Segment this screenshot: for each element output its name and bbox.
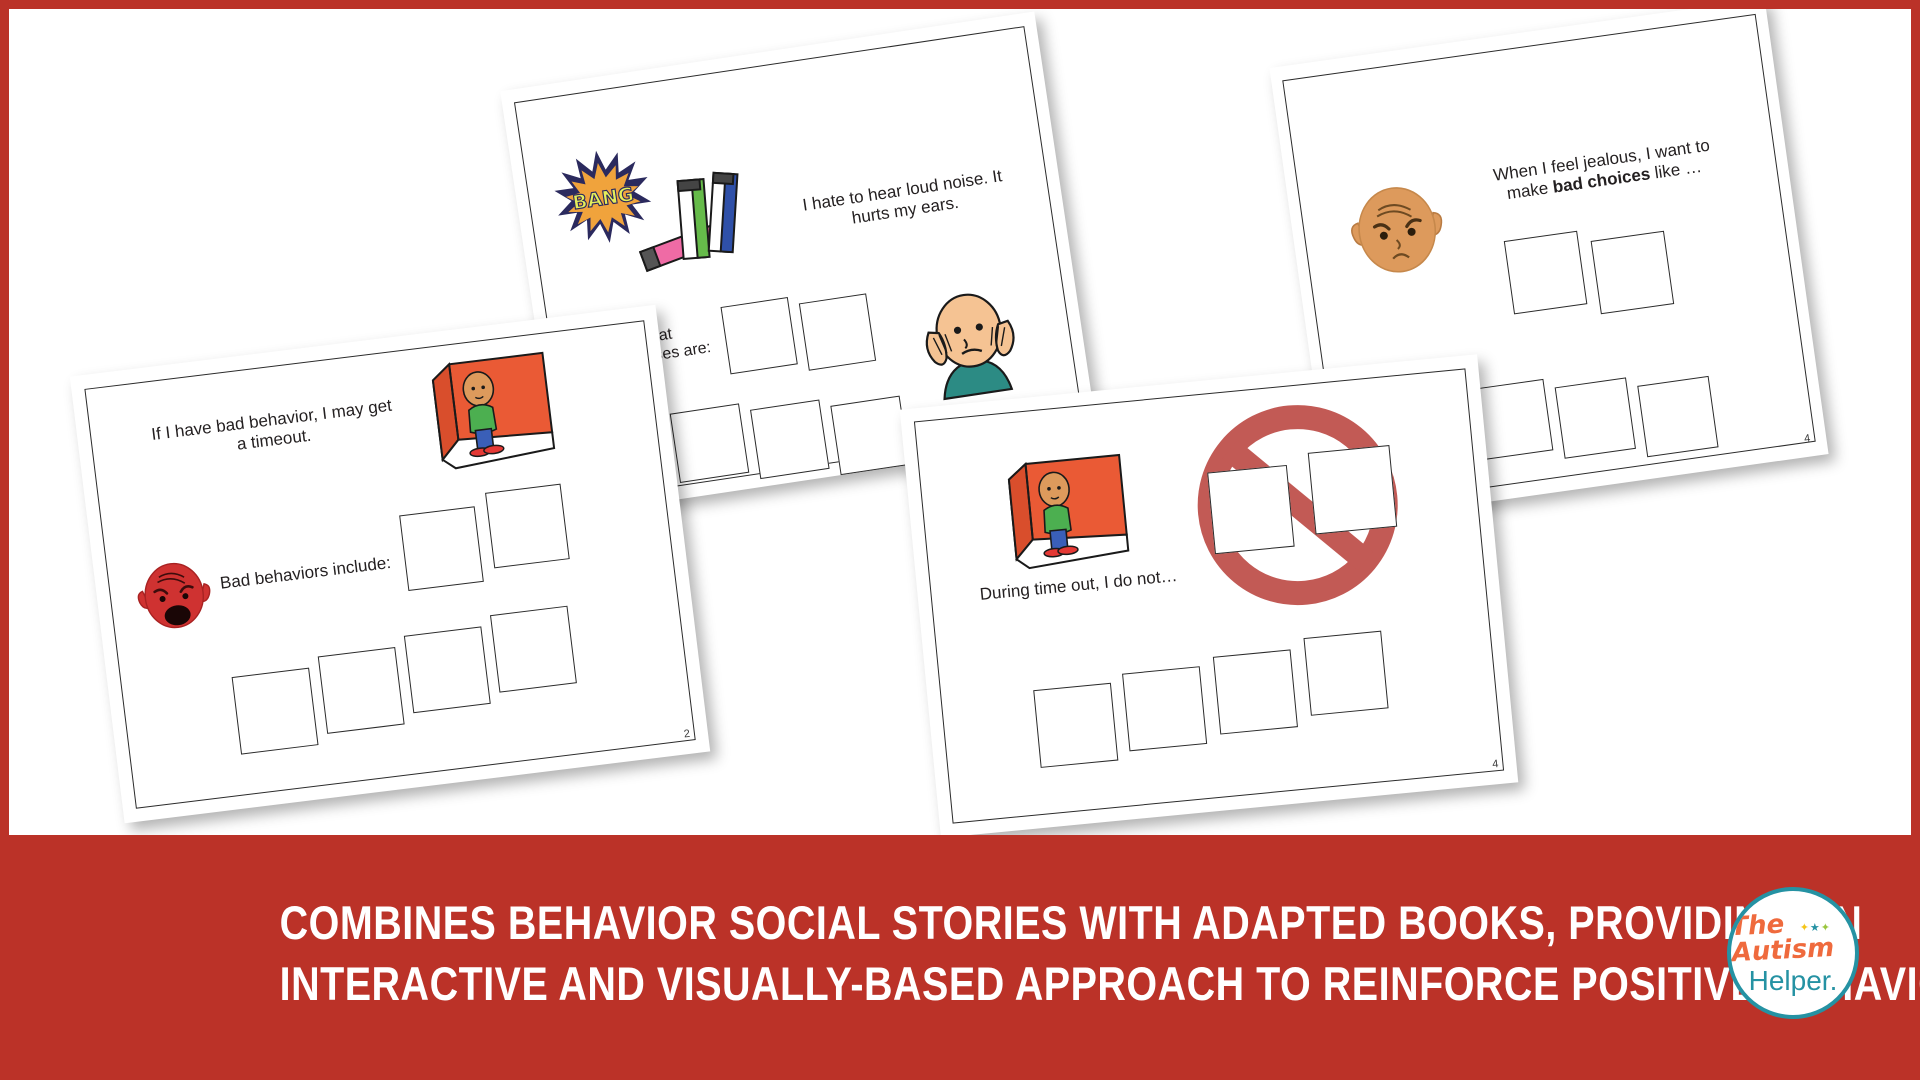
response-square[interactable] [1591, 231, 1675, 315]
response-square[interactable] [490, 606, 577, 693]
response-square[interactable] [1122, 666, 1207, 751]
the-autism-helper-logo[interactable]: ✦★✦ The Autism Helper. [1727, 887, 1859, 1019]
response-square[interactable] [799, 293, 876, 370]
promo-image-root: BANG [0, 0, 1920, 1080]
response-square[interactable] [1213, 649, 1298, 734]
response-square[interactable] [1033, 683, 1118, 768]
response-square[interactable] [1555, 377, 1636, 458]
boy-covering-ears-icon [906, 275, 1034, 408]
response-square[interactable] [1504, 231, 1588, 315]
page-number: 4 [1492, 758, 1499, 771]
card-collage-stage: BANG [9, 9, 1911, 835]
response-square[interactable] [399, 506, 484, 591]
timeout-boy-corner-icon [423, 348, 562, 475]
response-square[interactable] [404, 626, 491, 713]
angry-red-face-icon [131, 551, 218, 640]
timeout-boy-corner-icon [999, 450, 1135, 574]
response-square[interactable] [318, 647, 405, 734]
promo-banner: Combines behavior social stories with ad… [9, 835, 1911, 1071]
response-square[interactable] [670, 403, 750, 483]
card-bad-behavior-timeout[interactable]: If I have bad behavior, I may get a time… [70, 305, 710, 824]
response-square[interactable] [1303, 631, 1388, 716]
response-square[interactable] [750, 399, 830, 479]
response-square[interactable] [485, 484, 570, 569]
response-square[interactable] [721, 297, 798, 374]
jealous-angry-face-icon [1338, 171, 1455, 288]
page-number: 2 [683, 728, 691, 741]
banner-line-1: Combines behavior social stories with ad… [280, 892, 1641, 953]
response-square[interactable] [1308, 445, 1397, 534]
response-square[interactable] [1207, 465, 1294, 554]
response-square[interactable] [830, 396, 910, 476]
response-square[interactable] [1637, 376, 1718, 457]
card-during-time-out[interactable]: During time out, I do not… 4 [900, 354, 1519, 835]
banner-line-2: interactive and visually-based approach … [280, 953, 1641, 1014]
response-square[interactable] [232, 668, 319, 755]
banner-headline: Combines behavior social stories with ad… [280, 892, 1641, 1014]
logo-line-2: Helper. [1749, 966, 1838, 995]
logo-line-1: The Autism [1730, 908, 1857, 966]
books-icon [625, 152, 760, 279]
